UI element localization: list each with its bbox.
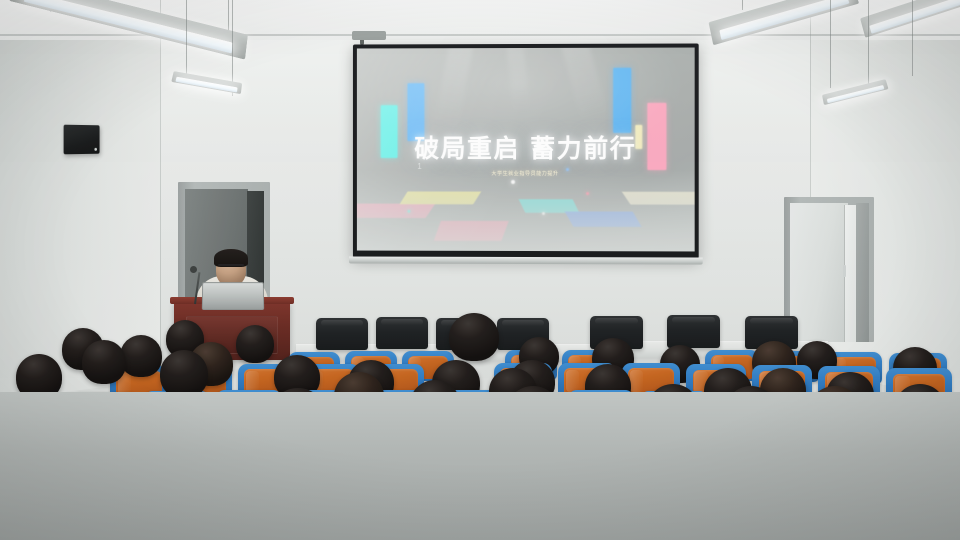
exec-chair-2[interactable] xyxy=(376,317,428,349)
speaker-led-icon xyxy=(94,148,97,151)
screen-roller-bar xyxy=(349,256,703,264)
door-right-handle[interactable] xyxy=(843,265,846,277)
audience-head-r3-2 xyxy=(82,340,126,384)
projection-screen: 破局重启 蓄力前行 大学生就业指导员能力提升 1 xyxy=(353,43,699,258)
door-right-opening xyxy=(790,203,848,342)
audience-head-r1-3 xyxy=(449,313,499,361)
microphone xyxy=(190,266,197,273)
slide-haze-overlay xyxy=(357,170,695,252)
pendant-light-far-right xyxy=(800,0,960,130)
exec-chair-1[interactable] xyxy=(316,318,368,350)
laptop[interactable] xyxy=(202,282,264,310)
slide-page-number: 1 xyxy=(417,162,421,171)
screen-surface: 破局重启 蓄力前行 大学生就业指导员能力提升 1 xyxy=(357,48,695,252)
exec-chair-6[interactable] xyxy=(667,315,720,348)
projection-screen-assembly: 破局重启 蓄力前行 大学生就业指导员能力提升 1 xyxy=(352,44,698,258)
audience-head-r3-3 xyxy=(160,350,208,398)
wall-speaker xyxy=(64,125,100,155)
floor xyxy=(0,392,960,540)
screen-bracket-left xyxy=(352,31,386,40)
presentation-slide: 破局重启 蓄力前行 大学生就业指导员能力提升 1 xyxy=(357,48,695,252)
presenter-glasses-icon xyxy=(218,264,244,266)
slide-title: 破局重启 蓄力前行 xyxy=(357,129,695,165)
slide-bar-blue-right xyxy=(613,68,631,133)
audience-head-r2-2 xyxy=(120,335,162,377)
door-right-leaf-edge xyxy=(856,203,869,342)
lecture-hall-photo: 破局重启 蓄力前行 大学生就业指导员能力提升 1 xyxy=(0,0,960,540)
audience-head-r1-2 xyxy=(236,325,274,363)
slide-subtitle: 大学生就业指导员能力提升 xyxy=(357,170,695,177)
